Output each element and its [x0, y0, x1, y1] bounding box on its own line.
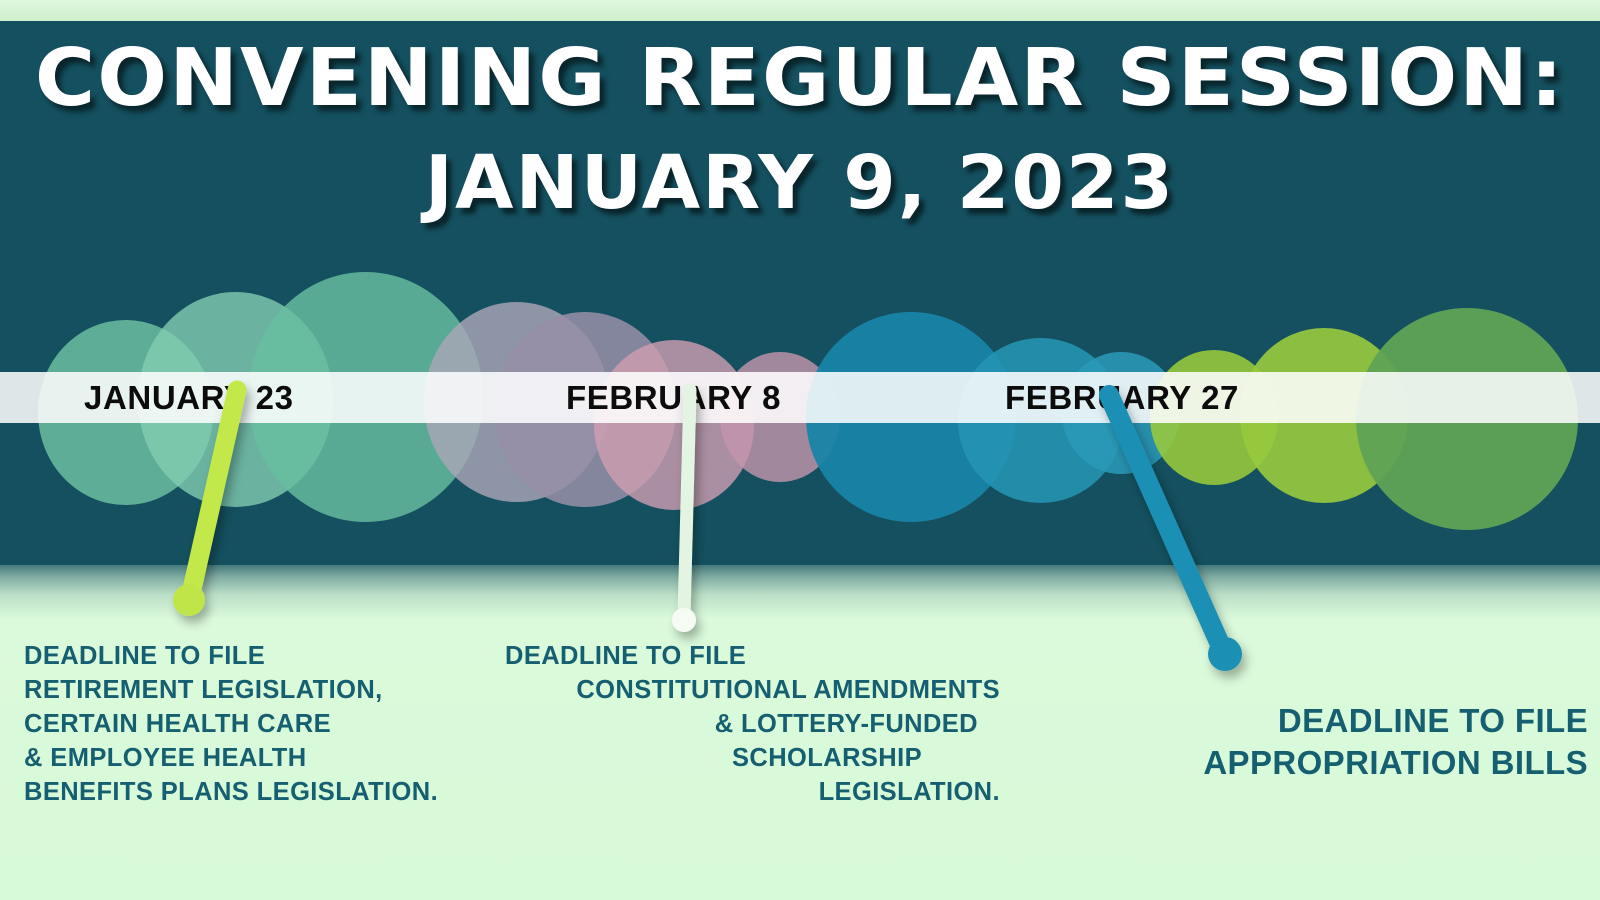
page-title-line1: CONVENING REGULAR SESSION:: [0, 32, 1600, 124]
page-title-line2: JANUARY 9, 2023: [0, 140, 1600, 226]
caption-line: DEADLINE TO FILE: [1110, 700, 1588, 742]
caption-line: BENEFITS PLANS LEGISLATION.: [24, 776, 438, 810]
connector-dot-february-8: [672, 608, 696, 632]
caption-line: DEADLINE TO FILE: [505, 640, 1000, 674]
caption-line: SCHOLARSHIP: [505, 742, 922, 776]
caption-january-23: DEADLINE TO FILE RETIREMENT LEGISLATION,…: [24, 640, 438, 810]
caption-line: DEADLINE TO FILE: [24, 640, 438, 674]
connector-january-23: [173, 390, 237, 616]
top-edge-strip: [0, 0, 1600, 21]
connector-february-8: [672, 390, 696, 632]
connector-dot-january-23: [173, 584, 205, 616]
caption-line: APPROPRIATION BILLS: [1110, 742, 1588, 784]
caption-line: RETIREMENT LEGISLATION,: [24, 674, 438, 708]
caption-line: CONSTITUTIONAL AMENDMENTS: [505, 674, 1000, 708]
caption-february-27: DEADLINE TO FILE APPROPRIATION BILLS: [1110, 700, 1588, 784]
connector-february-27: [1109, 395, 1242, 671]
connector-dot-february-27: [1208, 637, 1242, 671]
caption-line: LEGISLATION.: [505, 776, 1000, 810]
caption-line: CERTAIN HEALTH CARE: [24, 708, 438, 742]
caption-february-8: DEADLINE TO FILE CONSTITUTIONAL AMENDMEN…: [505, 640, 1000, 810]
caption-line: & LOTTERY-FUNDED: [505, 708, 978, 742]
infographic-canvas: JANUARY 23 FEBRUARY 8 FEBRUARY 27 CONVEN…: [0, 0, 1600, 900]
caption-line: & EMPLOYEE HEALTH: [24, 742, 438, 776]
